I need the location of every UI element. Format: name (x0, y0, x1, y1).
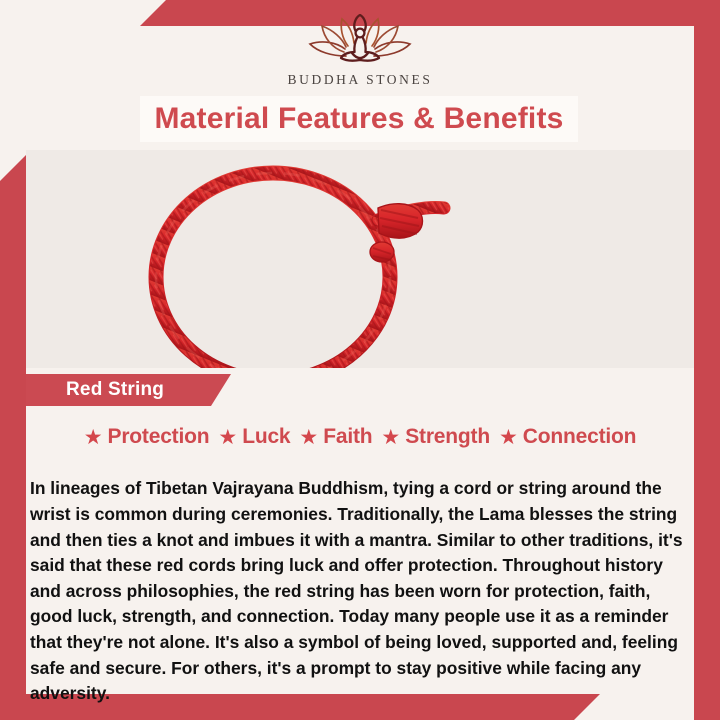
star-icon: ★ (84, 427, 103, 448)
benefit-item-luck: ★ Luck (218, 425, 290, 449)
benefit-item-connection: ★ Connection (499, 425, 636, 449)
product-photo (26, 150, 694, 368)
benefit-label: Connection (523, 425, 637, 449)
star-icon: ★ (218, 427, 237, 448)
benefit-item-strength: ★ Strength (381, 425, 490, 449)
star-icon: ★ (299, 427, 318, 448)
product-name-label: Red String (26, 379, 164, 401)
red-braided-bracelet-image (26, 150, 694, 368)
benefit-label: Protection (108, 425, 210, 449)
infographic-page: BUDDHA STONES Material Features & Benefi… (0, 0, 720, 720)
benefit-label: Faith (323, 425, 372, 449)
decorative-bar-right (694, 26, 720, 720)
benefit-item-faith: ★ Faith (299, 425, 372, 449)
lotus-meditation-icon (302, 14, 418, 70)
brand-name: BUDDHA STONES (0, 72, 720, 88)
star-icon: ★ (381, 427, 400, 448)
star-icon: ★ (499, 427, 518, 448)
decorative-bar-left (0, 155, 26, 720)
benefit-label: Luck (242, 425, 290, 449)
benefit-label: Strength (405, 425, 490, 449)
title-banner: Material Features & Benefits (140, 96, 578, 142)
product-name-ribbon: Red String (26, 374, 231, 406)
benefits-list: ★ Protection ★ Luck ★ Faith ★ Strength ★… (26, 420, 694, 454)
description-text: In lineages of Tibetan Vajrayana Buddhis… (26, 476, 694, 706)
brand-logo: BUDDHA STONES (0, 14, 720, 88)
page-title: Material Features & Benefits (154, 102, 563, 136)
benefit-item-protection: ★ Protection (84, 425, 210, 449)
